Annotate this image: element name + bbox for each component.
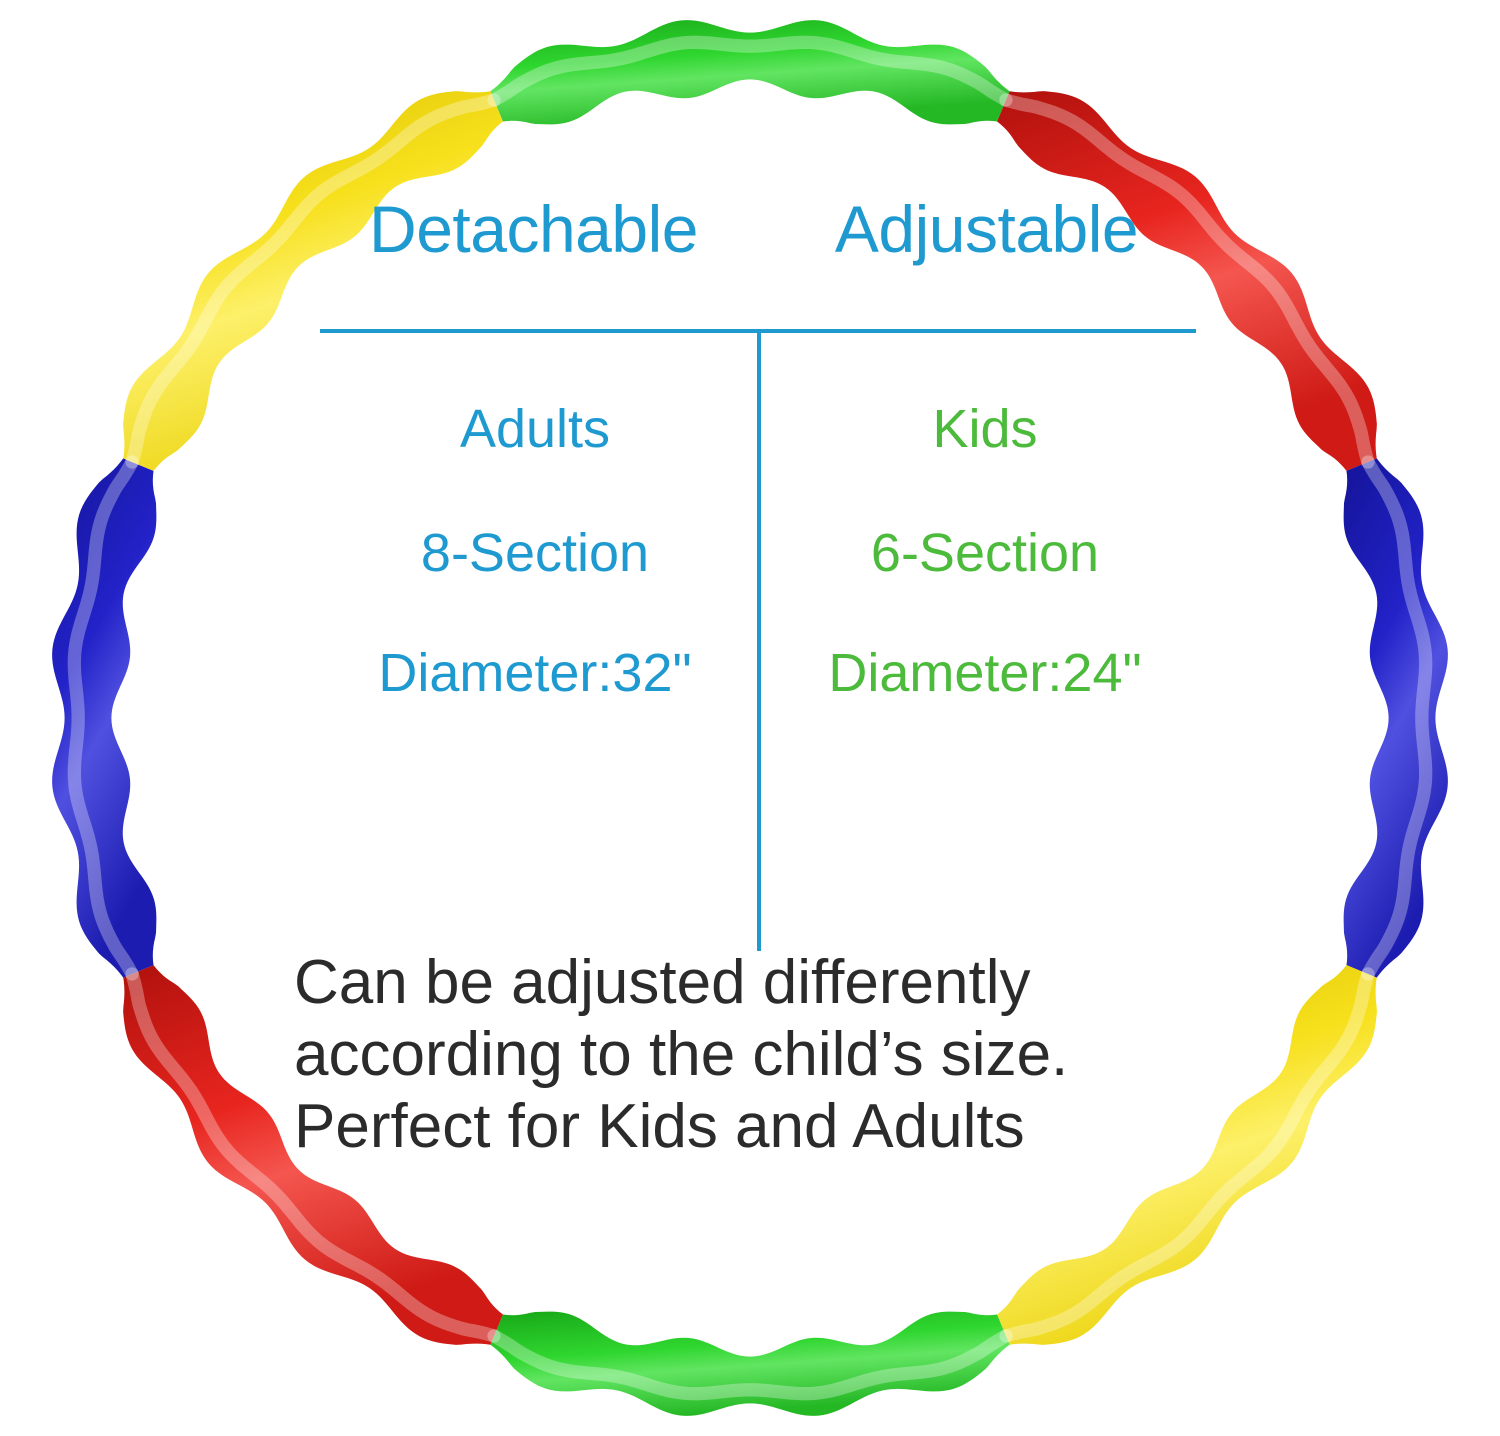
headings-row: Detachable Adjustable — [310, 196, 1210, 262]
spec-columns: Adults 8-Section Diameter:32" Kids 6-Sec… — [310, 390, 1210, 700]
spec-column-adults: Adults 8-Section Diameter:32" — [310, 390, 760, 700]
bottom-description-line-2: according to the child’s size. — [294, 1019, 1224, 1091]
product-infographic: Detachable Adjustable Adults 8-Section D… — [0, 0, 1500, 1436]
kids-audience-label: Kids — [760, 402, 1210, 456]
adults-audience-label: Adults — [310, 402, 760, 456]
spec-column-kids: Kids 6-Section Diameter:24" — [760, 390, 1210, 700]
bottom-description: Can be adjusted differently according to… — [294, 947, 1224, 1163]
kids-diameter-label: Diameter:24" — [760, 646, 1210, 700]
text-overlay: Detachable Adjustable Adults 8-Section D… — [0, 0, 1500, 1436]
heading-adjustable: Adjustable — [763, 196, 1210, 262]
kids-sections-label: 6-Section — [760, 526, 1210, 580]
heading-detachable: Detachable — [310, 196, 757, 262]
bottom-description-line-3: Perfect for Kids and Adults — [294, 1091, 1224, 1163]
bottom-description-line-1: Can be adjusted differently — [294, 947, 1224, 1019]
adults-sections-label: 8-Section — [310, 526, 760, 580]
adults-diameter-label: Diameter:32" — [310, 646, 760, 700]
